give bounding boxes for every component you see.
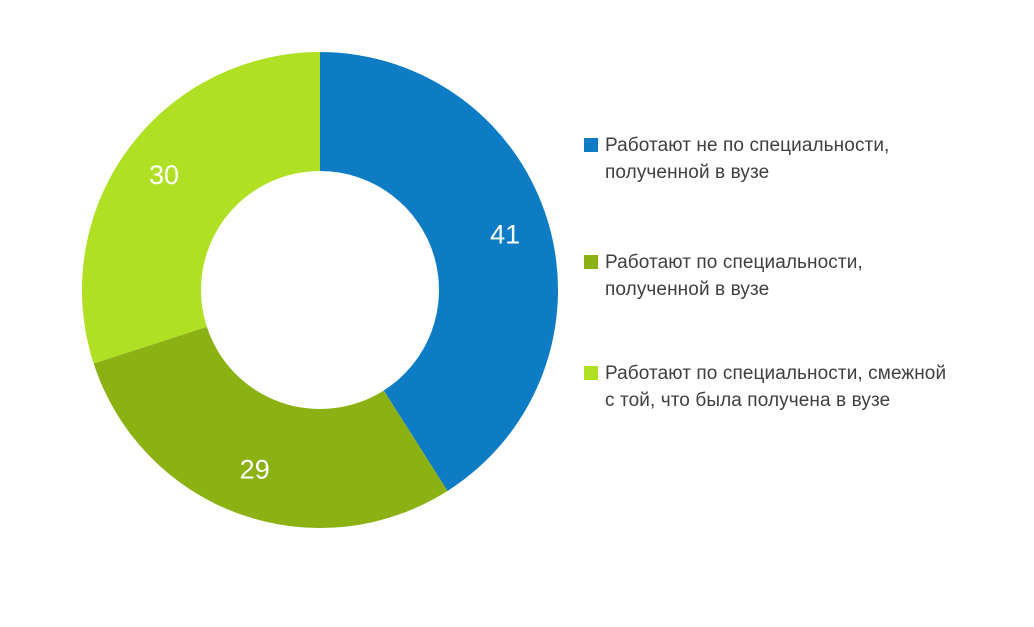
legend-swatch-icon-0: [584, 138, 598, 152]
donut-chart-figure: 41 29 30 Работают не по специальности, п…: [0, 0, 1034, 627]
legend-label-1: Работают по специальности, полученной в …: [605, 249, 863, 303]
legend-item-1[interactable]: Работают по специальности, полученной в …: [584, 249, 1024, 303]
data-label-1: 29: [240, 455, 270, 485]
legend-swatch-icon-2: [584, 366, 598, 380]
donut-chart-plot: 41 29 30: [0, 0, 580, 627]
legend-label-0: Работают не по специальности, полученной…: [605, 132, 889, 186]
data-label-0: 41: [490, 219, 520, 249]
donut-chart-svg: 41 29 30: [0, 0, 580, 627]
legend-label-2: Работают по специальности, смежной с той…: [605, 360, 946, 414]
donut-slice-2[interactable]: [82, 52, 320, 364]
donut-slice-1[interactable]: [94, 327, 448, 528]
legend-swatch-icon-1: [584, 255, 598, 269]
legend-item-2[interactable]: Работают по специальности, смежной с той…: [584, 360, 1024, 414]
data-label-2: 30: [149, 160, 179, 190]
donut-slices: [82, 52, 558, 528]
chart-legend: Работают не по специальности, полученной…: [584, 132, 1024, 414]
legend-item-0[interactable]: Работают не по специальности, полученной…: [584, 132, 1024, 186]
